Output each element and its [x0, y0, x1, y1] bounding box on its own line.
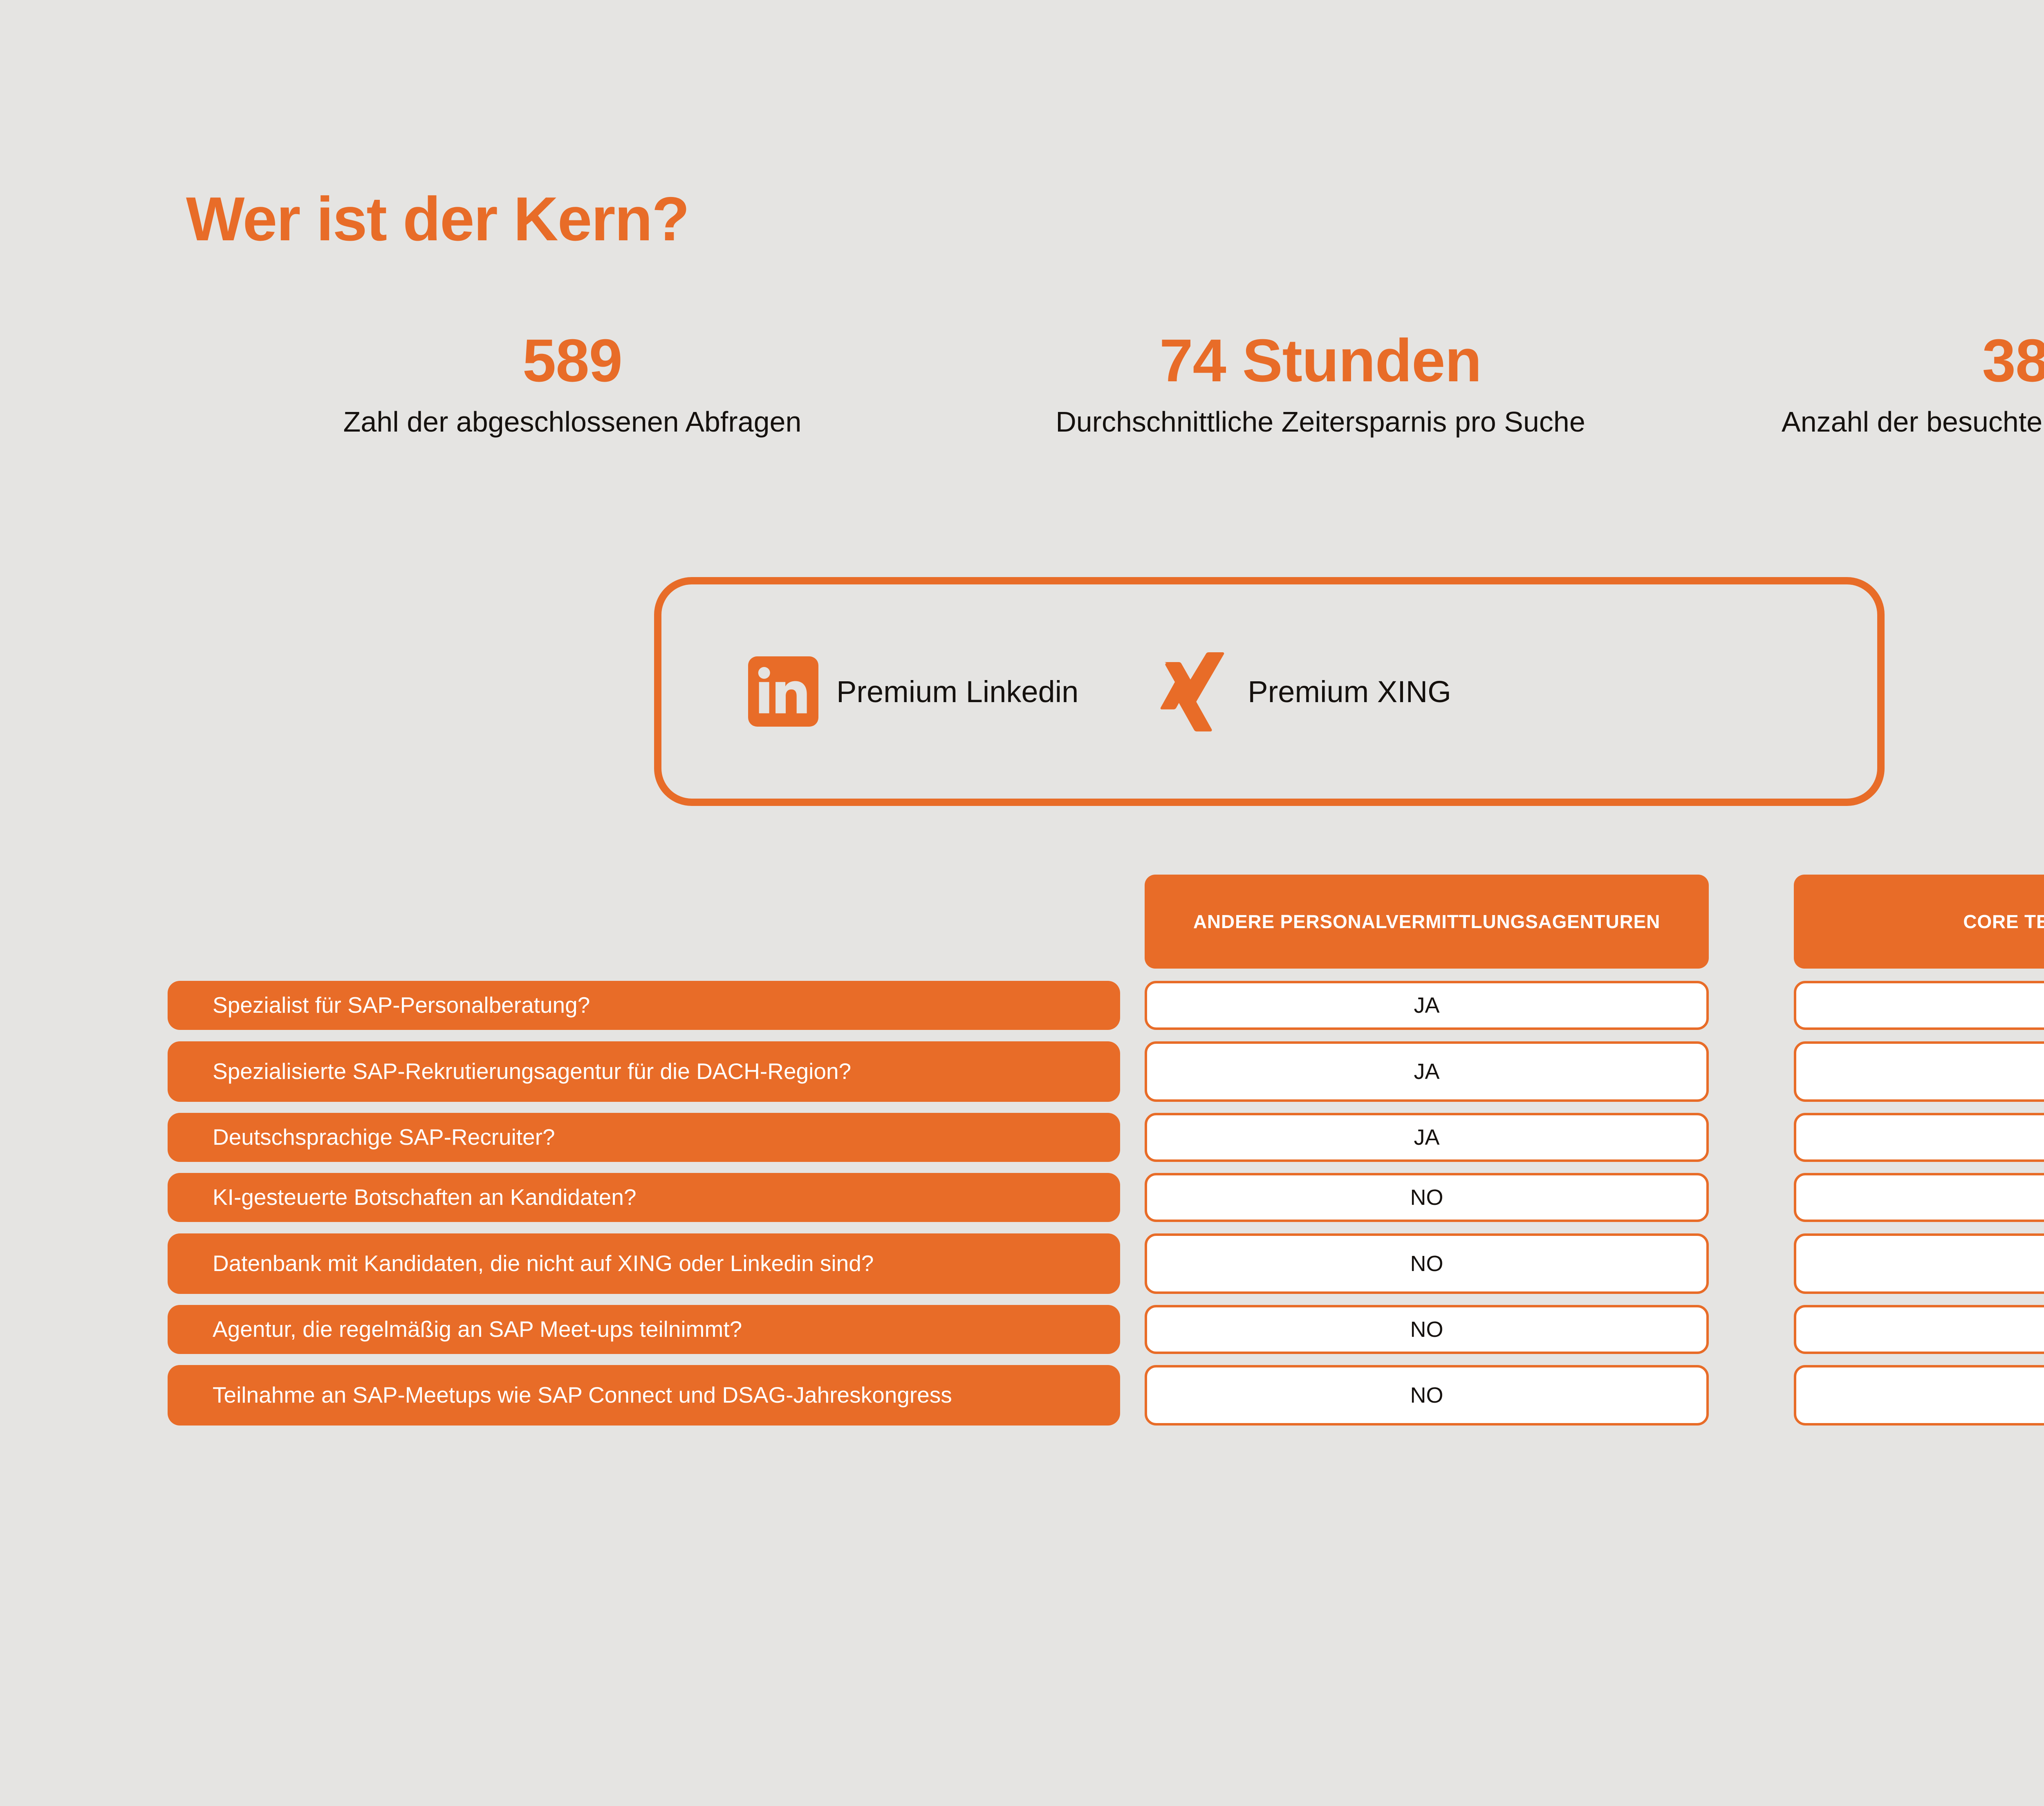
answer-cell-other: JA	[1145, 1041, 1709, 1102]
answer-cell-core: JA	[1794, 1041, 2044, 1102]
question-pill[interactable]: Teilnahme an SAP-Meetups wie SAP Connect…	[168, 1365, 1120, 1426]
stat-label: Zahl der abgeschlossenen Abfragen	[192, 404, 953, 441]
badge-premium-xing: Premium XING	[1159, 651, 1451, 732]
answer-cell-core: JA	[1794, 981, 2044, 1030]
infographic-canvas: Wer ist der Kern? 589 Zahl der abgeschlo…	[0, 0, 2044, 1806]
stat-label: Durchschnittliche Zeitersparnis pro Such…	[953, 404, 1688, 441]
column-header-other-agencies: ANDERE PERSONALVERMITTLUNGSAGENTUREN	[1145, 875, 1709, 969]
badge-premium-linkedin: Premium Linkedin	[748, 656, 1078, 727]
xing-icon	[1159, 651, 1229, 732]
stat-value: 589	[192, 327, 953, 395]
answer-cell-other: NO	[1145, 1305, 1709, 1354]
answer-cell-other: NO	[1145, 1173, 1709, 1222]
stat-card: 38 Anzahl der besuchten SAP-Meetings	[1688, 327, 2044, 440]
question-pill[interactable]: Deutschsprachige SAP-Recruiter?	[168, 1113, 1120, 1162]
stat-label: Anzahl der besuchten SAP-Meetings	[1688, 404, 2044, 441]
answer-cell-other: NO	[1145, 1365, 1709, 1426]
stats-row: 589 Zahl der abgeschlossenen Abfragen 74…	[192, 327, 2044, 548]
badge-label: Premium XING	[1248, 674, 1451, 709]
stat-value: 74 Stunden	[953, 327, 1688, 395]
column-header-core-tech: CORE TECH RECRUITMENT	[1794, 875, 2044, 969]
answer-cell-other: JA	[1145, 1113, 1709, 1162]
question-pill[interactable]: Spezialisierte SAP-Rekrutierungsagentur …	[168, 1041, 1120, 1102]
answer-cell-other: NO	[1145, 1233, 1709, 1294]
answer-cell-other: JA	[1145, 981, 1709, 1030]
question-pill[interactable]: KI-gesteuerte Botschaften an Kandidaten?	[168, 1173, 1120, 1222]
premium-subscriptions-box: Premium Linkedin Premium XING	[654, 577, 1885, 806]
badge-label: Premium Linkedin	[836, 674, 1078, 709]
question-pill[interactable]: Spezialist für SAP-Personalberatung?	[168, 981, 1120, 1030]
comparison-table: ANDERE PERSONALVERMITTLUNGSAGENTUREN COR…	[0, 0, 2044, 1806]
answer-cell-core: JA	[1794, 1173, 2044, 1222]
answer-cell-core: JA	[1794, 1233, 2044, 1294]
stat-value: 38	[1688, 327, 2044, 395]
question-pill[interactable]: Datenbank mit Kandidaten, die nicht auf …	[168, 1233, 1120, 1294]
stat-card: 74 Stunden Durchschnittliche Zeitersparn…	[953, 327, 1688, 440]
linkedin-icon	[748, 656, 818, 727]
answer-cell-core: JA	[1794, 1365, 2044, 1426]
page-title: Wer ist der Kern?	[186, 188, 689, 250]
answer-cell-core: JA	[1794, 1305, 2044, 1354]
question-pill[interactable]: Agentur, die regelmäßig an SAP Meet-ups …	[168, 1305, 1120, 1354]
answer-cell-core: JA	[1794, 1113, 2044, 1162]
stat-card: 589 Zahl der abgeschlossenen Abfragen	[192, 327, 953, 440]
